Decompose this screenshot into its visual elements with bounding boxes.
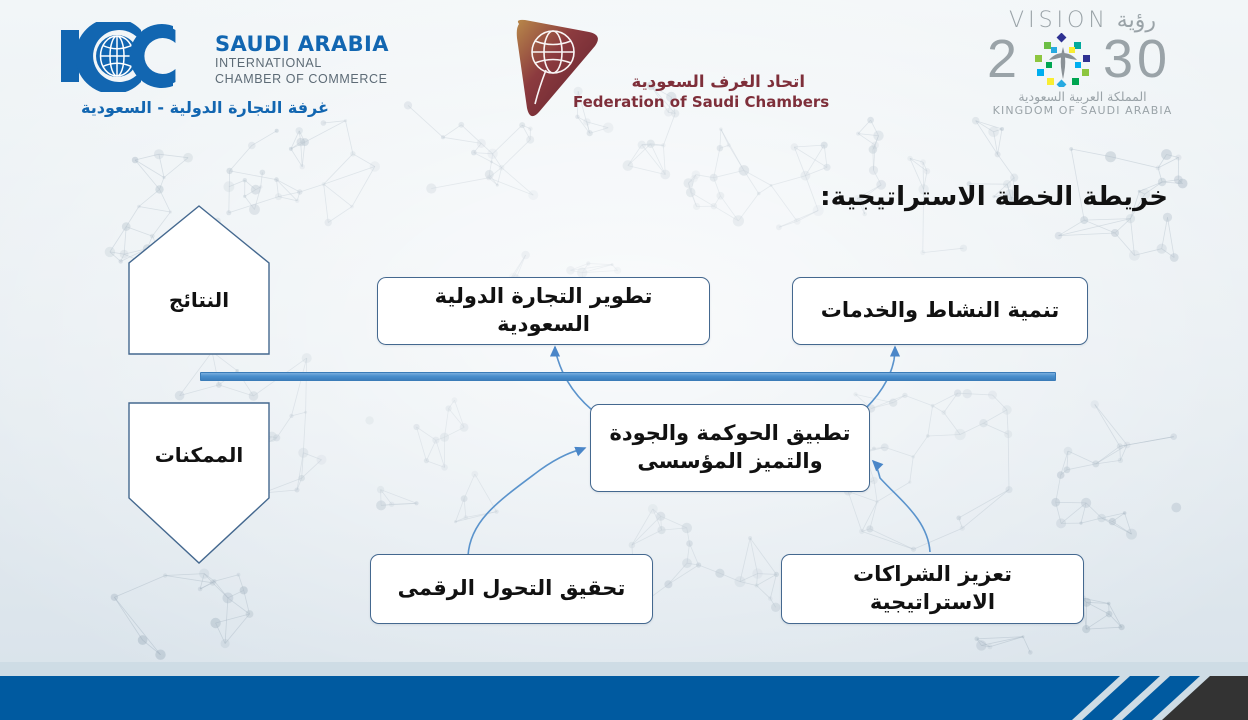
box-develop-activity[interactable]: تنمية النشاط والخدمات [792, 277, 1088, 345]
box-governance-quality[interactable]: تطبيق الحوكمة والجودة والتميز المؤسسى [590, 404, 870, 492]
box-develop-intl-trade[interactable]: تطوير التجارة الدولية السعودية [377, 277, 710, 345]
strategic-plan-diagram: النتائج الممكنات تطوير التجارة الدولية ا… [0, 0, 1248, 720]
box-strategic-partners[interactable]: تعزيز الشراكات الاستراتيجية [781, 554, 1084, 624]
layer-label-results: النتائج [128, 288, 270, 312]
footer-decoration [0, 662, 1248, 720]
layer-shape-results [126, 203, 272, 357]
layer-label-enablers: الممكنات [128, 443, 270, 467]
layer-shape-enablers [126, 400, 272, 566]
box-digital-transform[interactable]: تحقيق التحول الرقمى [370, 554, 653, 624]
slide-canvas: SAUDI ARABIA INTERNATIONAL CHAMBER OF CO… [0, 0, 1248, 720]
layer-divider-bar [200, 372, 1056, 381]
footer-blue-band [0, 676, 1120, 720]
